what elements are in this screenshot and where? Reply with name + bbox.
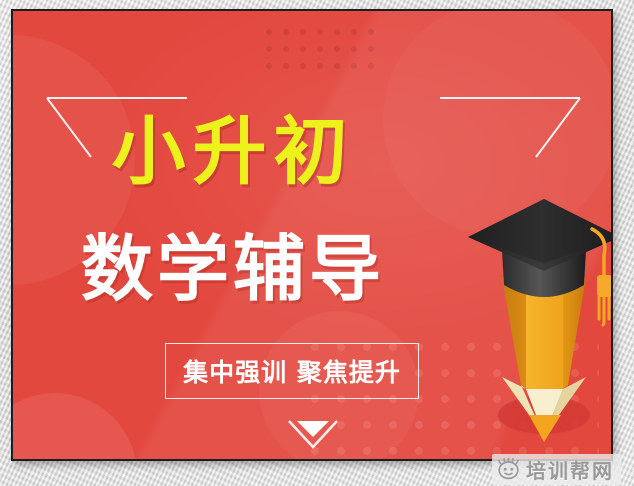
page-title-secondary: 数学辅导 [13, 233, 453, 305]
smiley-sun-icon [497, 458, 520, 481]
page-title-primary: 小升初 [13, 115, 453, 189]
banner-canvas: 小升初 数学辅导 集中强训 聚焦提升 [13, 11, 611, 459]
chevron-down-icon[interactable] [283, 415, 343, 453]
poster-root: 小升初 数学辅导 集中强训 聚焦提升 [0, 0, 634, 486]
subtitle-text: 集中强训 聚焦提升 [183, 353, 401, 389]
watermark: 培训帮网 [492, 454, 621, 485]
watermark-text: 培训帮网 [526, 455, 614, 484]
subtitle-box: 集中强训 聚焦提升 [165, 343, 419, 399]
banner-frame: 小升初 数学辅导 集中强训 聚焦提升 [11, 9, 613, 461]
